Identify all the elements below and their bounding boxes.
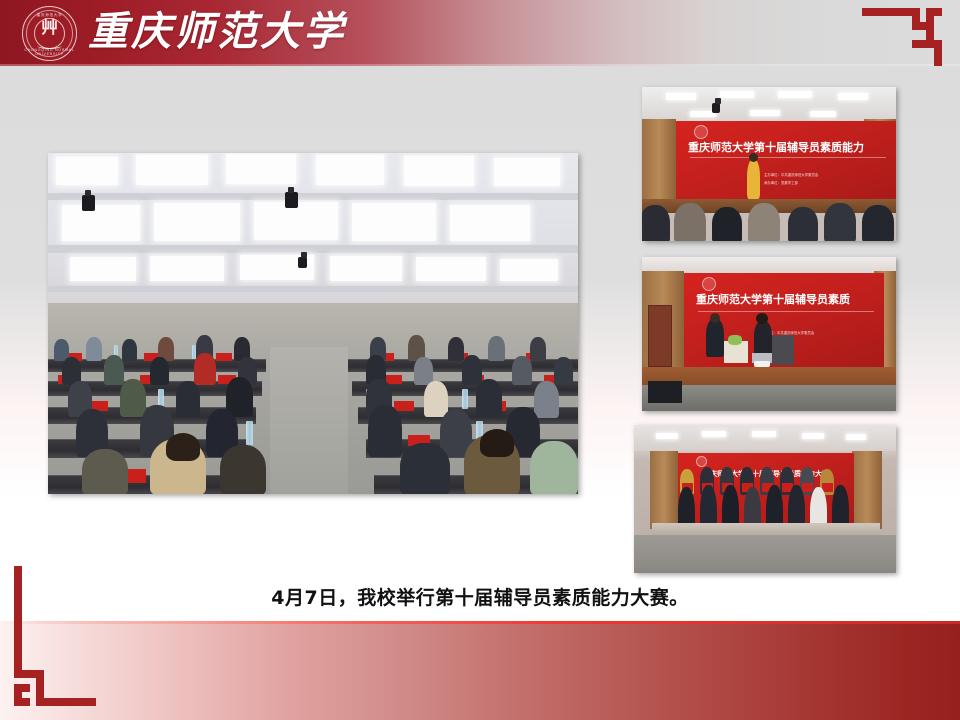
ceiling-projector-icon	[82, 195, 95, 211]
banner-title-text: 重庆师范大学第十届辅导员素质能力	[676, 141, 896, 154]
ceiling-projector-icon	[298, 257, 307, 268]
banner-subtitle-1: 主办单位：中共重庆师范大学委员会	[676, 173, 896, 178]
stage-chair	[772, 335, 794, 365]
slide-caption: 4月7日，我校举行第十届辅导员素质能力大赛。	[0, 585, 960, 611]
stage-presenter	[747, 159, 760, 199]
banner-title-text: 重庆师范大学第十届辅导员素质	[684, 293, 884, 306]
university-seal-logo: 重庆师范大学 艸 CHONGQING NORMAL UNIVERSITY	[22, 6, 77, 61]
slide-bottom-accent-line	[0, 621, 960, 624]
university-name-title: 重庆师范大学	[88, 5, 346, 59]
banner-subtitle-2: 承办单位：党委学工部	[676, 181, 896, 186]
seal-center-glyph: 艸	[23, 19, 76, 38]
thumbnail-photo-group: 重庆师范大学第十届辅导员素质能力大赛	[634, 425, 896, 573]
banner-university-logo	[694, 125, 708, 139]
seated-student	[754, 321, 772, 357]
thumbnail-photo-interview: 重庆师范大学第十届辅导员素质 主办单位：中共重庆师范大学委员会 承办单位：党委学…	[642, 257, 896, 411]
slide-bottom-band	[0, 621, 960, 720]
presentation-slide: 重庆师范大学 艸 CHONGQING NORMAL UNIVERSITY 重庆师…	[0, 0, 960, 720]
thumbnail-photo-speaker: 重庆师范大学第十届辅导员素质能力 主办单位：中共重庆师范大学委员会 承办单位：党…	[642, 87, 896, 241]
seated-interviewer	[706, 319, 724, 357]
stage-monitor-speaker	[648, 381, 682, 403]
chinese-fret-corner-ornament-bottom-left	[10, 566, 102, 711]
banner-university-logo	[702, 277, 716, 291]
center-aisle	[270, 347, 348, 494]
seal-arc-text-bottom: CHONGQING NORMAL UNIVERSITY	[23, 48, 76, 56]
ceiling-projector-icon	[285, 192, 298, 208]
side-door	[648, 305, 672, 367]
seal-arc-text-top: 重庆师范大学	[23, 13, 76, 18]
stage-banner: 重庆师范大学第十届辅导员素质能力 主办单位：中共重庆师范大学委员会 承办单位：党…	[676, 121, 896, 205]
main-photo-lecture-hall: 重庆师范大学第十届辅导员素质能力大赛 主办单位：中共重庆师范大学委员会 承办单位…	[48, 153, 578, 494]
ceiling-projector-icon	[712, 103, 720, 113]
banner-university-logo	[696, 456, 707, 467]
